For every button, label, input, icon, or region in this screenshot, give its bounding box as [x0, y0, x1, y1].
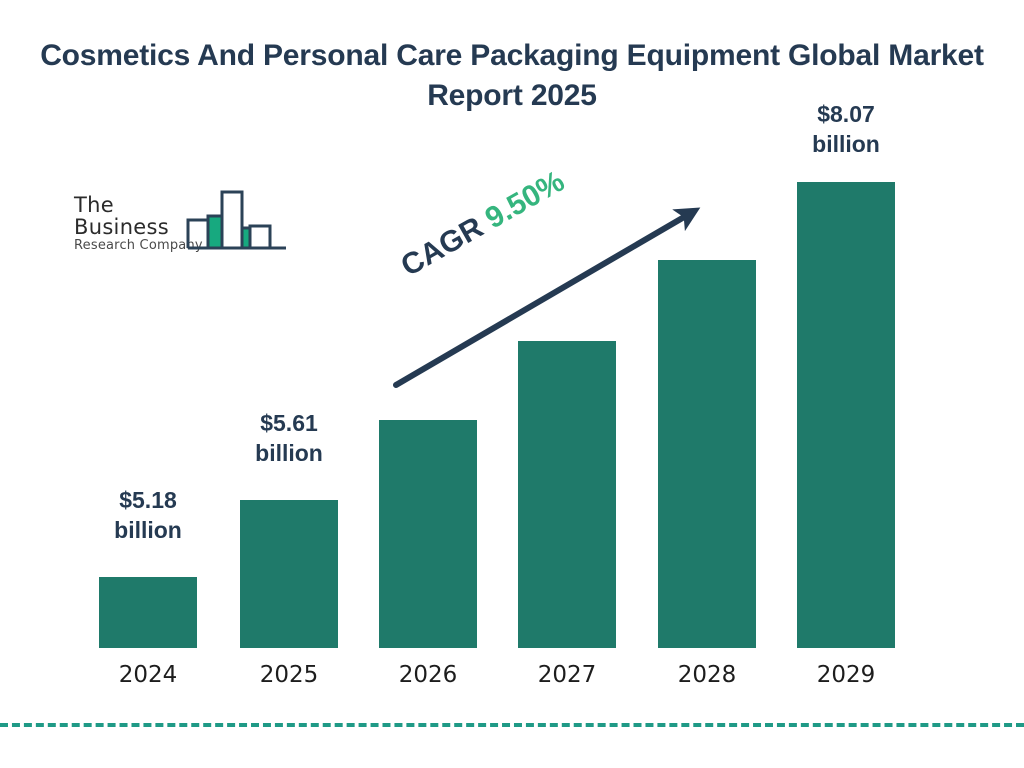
footer-divider	[0, 723, 1024, 727]
chart-canvas: Cosmetics And Personal Care Packaging Eq…	[0, 0, 1024, 768]
growth-arrow	[0, 0, 1024, 768]
bar-chart-plot: $5.18 billion $5.61 billion $8.07 billio…	[0, 0, 1024, 768]
